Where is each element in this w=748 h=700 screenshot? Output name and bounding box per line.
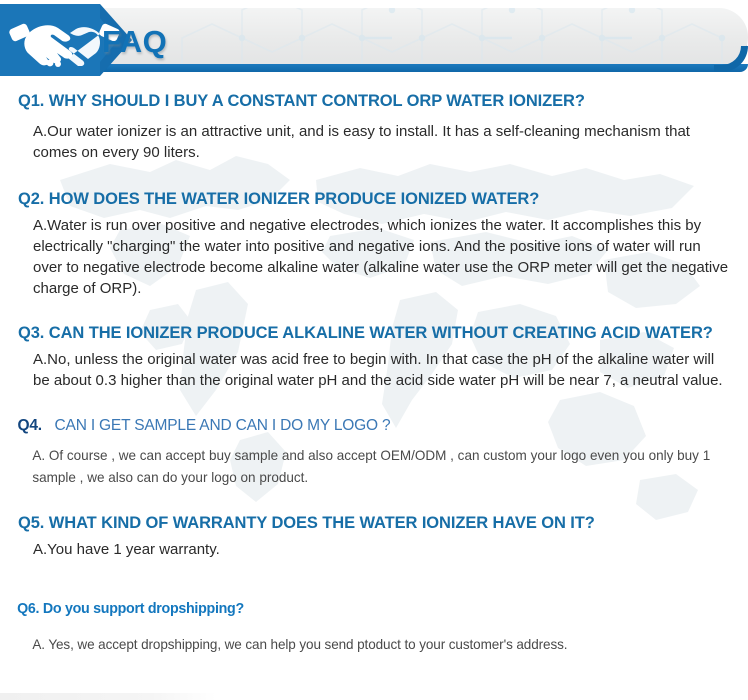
faq-question-text: CAN I GET SAMPLE AND CAN I DO MY LOGO ? xyxy=(55,417,391,434)
banner-underline xyxy=(62,64,748,72)
faq-question: Q5. WHAT KIND OF WARRANTY DOES THE WATER… xyxy=(0,514,748,533)
faq-page: FAQ Q1. WHY SHOULD I BUY A CONSTANT CONT… xyxy=(0,0,748,700)
faq-answer: A. Yes, we accept dropshipping, we can h… xyxy=(0,635,733,655)
faq-answer: A.Our water ionizer is an attractive uni… xyxy=(0,121,739,164)
faq-item: Q6. Do you support dropshipping? A. Yes,… xyxy=(0,600,748,655)
page-title: FAQ xyxy=(102,24,167,60)
faq-question: Q2. HOW DOES THE WATER IONIZER PRODUCE I… xyxy=(0,190,748,209)
faq-list: Q1. WHY SHOULD I BUY A CONSTANT CONTROL … xyxy=(0,92,748,655)
faq-answer: A.You have 1 year warranty. xyxy=(0,539,748,560)
faq-item: Q4.CAN I GET SAMPLE AND CAN I DO MY LOGO… xyxy=(0,417,748,488)
faq-item: Q2. HOW DOES THE WATER IONIZER PRODUCE I… xyxy=(0,190,748,300)
faq-answer: A.No, unless the original water was acid… xyxy=(0,349,748,392)
faq-answer: A. Of course , we can accept buy sample … xyxy=(0,445,733,488)
faq-question: Q4.CAN I GET SAMPLE AND CAN I DO MY LOGO… xyxy=(0,417,726,435)
faq-item: Q1. WHY SHOULD I BUY A CONSTANT CONTROL … xyxy=(0,92,748,164)
faq-question-number: Q4. xyxy=(17,417,54,434)
faq-question: Q1. WHY SHOULD I BUY A CONSTANT CONTROL … xyxy=(0,92,748,111)
faq-answer: A.Water is run over positive and negativ… xyxy=(0,215,748,300)
faq-header-banner: FAQ xyxy=(0,4,748,80)
faq-item: Q3. CAN THE IONIZER PRODUCE ALKALINE WAT… xyxy=(0,324,748,392)
faq-question: Q6. Do you support dropshipping? xyxy=(0,600,711,617)
faq-item: Q5. WHAT KIND OF WARRANTY DOES THE WATER… xyxy=(0,514,748,560)
bottom-section-edge xyxy=(0,693,216,700)
faq-question: Q3. CAN THE IONIZER PRODUCE ALKALINE WAT… xyxy=(0,324,748,343)
